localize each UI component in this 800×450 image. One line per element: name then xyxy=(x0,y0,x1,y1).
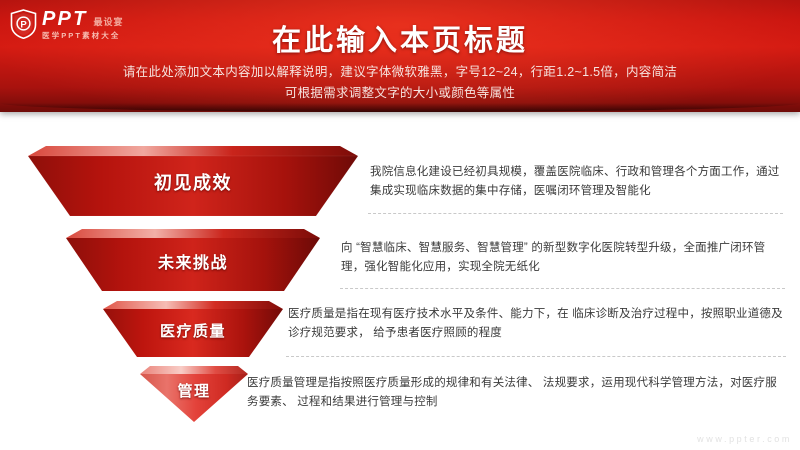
brand-cn-name: 最设宴 xyxy=(94,18,124,27)
brand-logo-text: PPT 最设宴 医学PPT素材大全 xyxy=(42,9,124,40)
brand-name: PPT xyxy=(42,9,88,29)
footer-website: www.ppter.com xyxy=(697,434,792,444)
funnel-layer-3-label: 医疗质量 xyxy=(160,320,226,341)
separator-2 xyxy=(340,288,785,289)
separator-1 xyxy=(368,213,783,214)
subtitle-line-2: 可根据需求调整文字的大小或颜色等属性 xyxy=(0,83,800,104)
page-subtitle: 请在此处添加文本内容加以解释说明，建议字体微软雅黑，字号12~24，行距1.2~… xyxy=(0,62,800,104)
funnel-layer-2[interactable]: 未来挑战 xyxy=(66,229,320,293)
funnel-layer-4[interactable]: 管理 xyxy=(140,366,248,422)
slide-canvas: P PPT 最设宴 医学PPT素材大全 在此输入本页标题 请在此处添加文本内容加… xyxy=(0,0,800,450)
svg-text:P: P xyxy=(20,20,27,31)
funnel-description-4: 医疗质量管理是指按照医疗质量形成的规律和有关法律、 法规要求，运用现代科学管理方… xyxy=(247,374,787,412)
shield-logo-icon: P xyxy=(10,9,37,39)
funnel-description-3: 医疗质量是指在现有医疗技术水平及条件、能力下，在 临床诊断及治疗过程中，按照职业… xyxy=(288,305,786,343)
separator-3 xyxy=(286,356,786,357)
funnel-description-2: 向 “智慧临床、智慧服务、智慧管理” 的新型数字化医院转型升级，全面推广闭环管理… xyxy=(341,239,788,277)
brand-logo[interactable]: P PPT 最设宴 医学PPT素材大全 xyxy=(10,9,124,40)
brand-tagline: 医学PPT素材大全 xyxy=(42,32,124,40)
funnel-layer-4-label: 管理 xyxy=(177,380,210,401)
funnel-layer-3[interactable]: 医疗质量 xyxy=(103,301,283,359)
funnel-layer-1-label: 初见成效 xyxy=(154,169,232,195)
subtitle-line-1: 请在此处添加文本内容加以解释说明，建议字体微软雅黑，字号12~24，行距1.2~… xyxy=(0,62,800,83)
funnel-layer-1[interactable]: 初见成效 xyxy=(28,146,358,218)
funnel-layer-2-label: 未来挑战 xyxy=(158,249,228,273)
funnel-description-1: 我院信息化建设已经初具规模，覆盖医院临床、行政和管理各个方面工作，通过集成实现临… xyxy=(370,163,785,201)
